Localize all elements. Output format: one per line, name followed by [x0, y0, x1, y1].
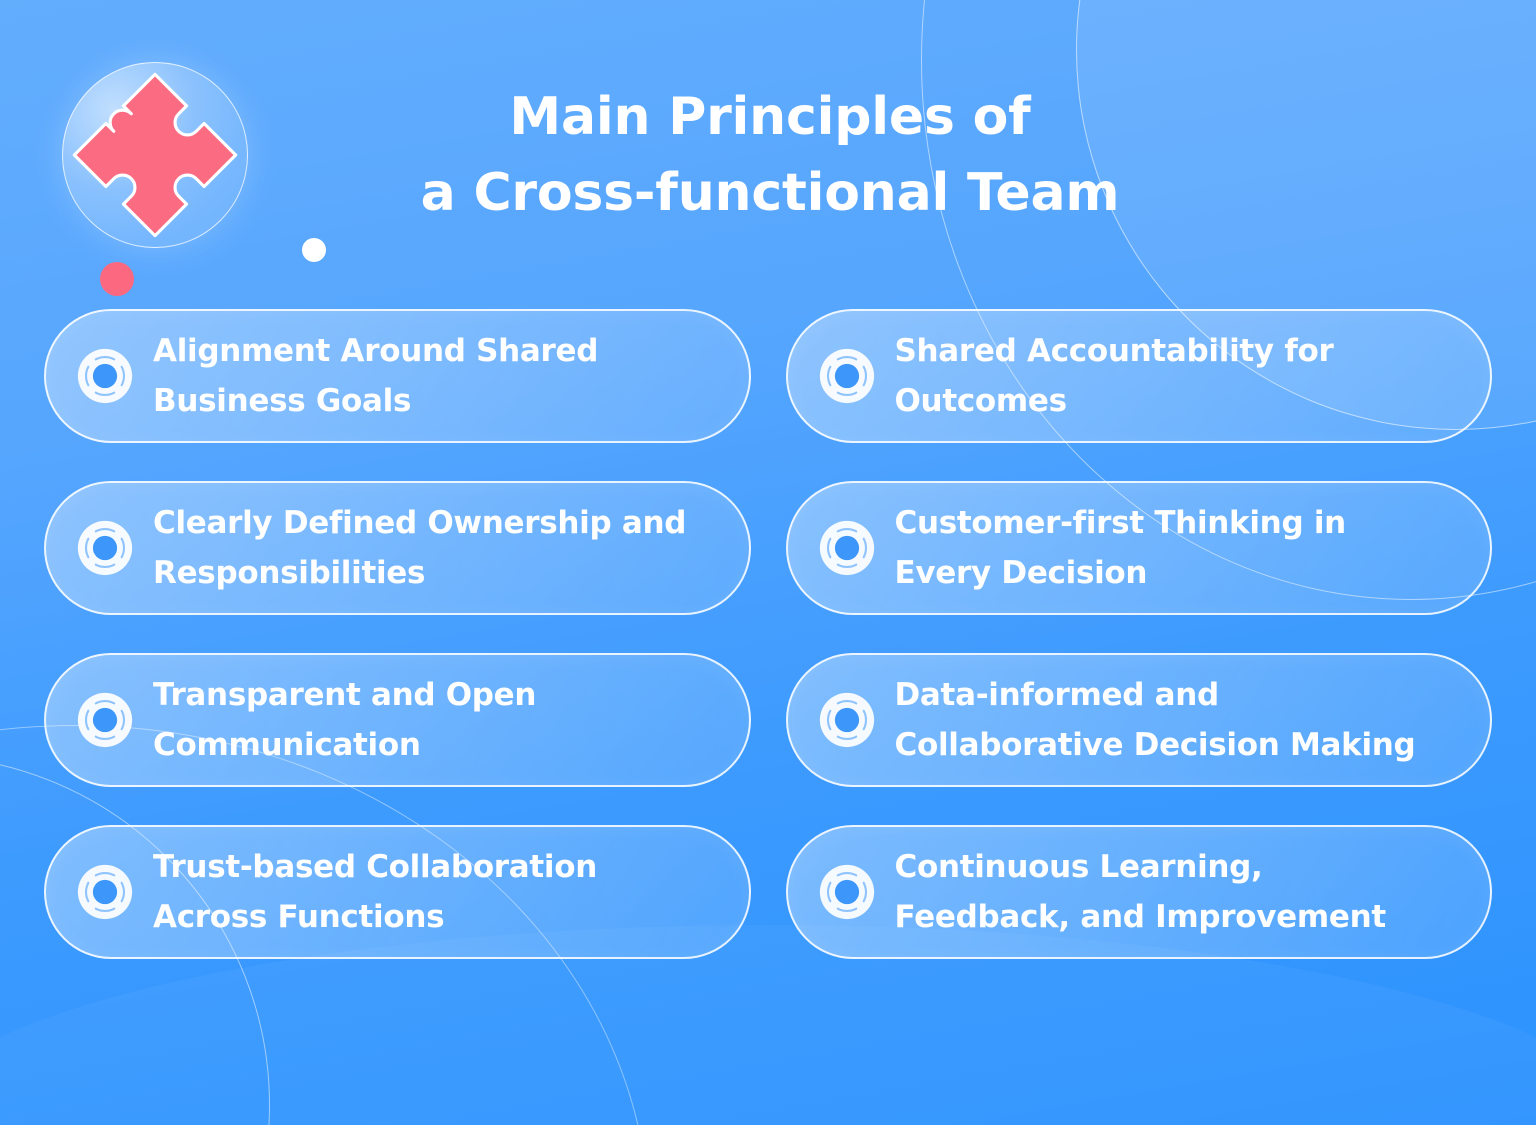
target-ring-icon — [816, 517, 878, 579]
principle-line-1: Trust-based Collaboration — [153, 842, 597, 892]
principle-line-1: Alignment Around Shared — [153, 326, 598, 376]
principle-label: Clearly Defined Ownership and Responsibi… — [153, 498, 686, 598]
target-ring-icon — [74, 861, 136, 923]
principles-row-2: Clearly Defined Ownership and Responsibi… — [44, 481, 1492, 615]
principle-card-4[interactable]: Customer-first Thinking in Every Decisio… — [786, 481, 1493, 615]
principles-row-1: Alignment Around Shared Business Goals — [44, 309, 1492, 443]
principle-line-2: Responsibilities — [153, 548, 686, 598]
infographic-poster: Main Principles of a Cross-functional Te… — [0, 0, 1536, 1125]
principle-line-1: Transparent and Open — [153, 670, 536, 720]
principle-card-6[interactable]: Data-informed and Collaborative Decision… — [786, 653, 1493, 787]
principle-card-3[interactable]: Clearly Defined Ownership and Responsibi… — [44, 481, 751, 615]
pink-dot — [100, 262, 134, 296]
page-title: Main Principles of a Cross-functional Te… — [300, 80, 1240, 232]
target-ring-icon — [74, 689, 136, 751]
principle-label: Trust-based Collaboration Across Functio… — [153, 842, 597, 942]
principle-card-2[interactable]: Shared Accountability for Outcomes — [786, 309, 1493, 443]
principle-label: Transparent and Open Communication — [153, 670, 536, 770]
principle-label: Alignment Around Shared Business Goals — [153, 326, 598, 426]
principle-card-5[interactable]: Transparent and Open Communication — [44, 653, 751, 787]
target-ring-icon — [816, 861, 878, 923]
principle-line-2: Every Decision — [895, 548, 1346, 598]
principle-label: Customer-first Thinking in Every Decisio… — [895, 498, 1346, 598]
title-line-1: Main Principles of — [300, 80, 1240, 156]
principle-line-1: Data-informed and — [895, 670, 1416, 720]
principle-line-2: Across Functions — [153, 892, 597, 942]
white-dot — [302, 238, 326, 262]
principle-card-8[interactable]: Continuous Learning, Feedback, and Impro… — [786, 825, 1493, 959]
principle-card-1[interactable]: Alignment Around Shared Business Goals — [44, 309, 751, 443]
title-line-2: a Cross-functional Team — [300, 156, 1240, 232]
principle-label: Continuous Learning, Feedback, and Impro… — [895, 842, 1386, 942]
principle-line-1: Continuous Learning, — [895, 842, 1386, 892]
principles-row-4: Trust-based Collaboration Across Functio… — [44, 825, 1492, 959]
principle-label: Shared Accountability for Outcomes — [895, 326, 1334, 426]
principle-label: Data-informed and Collaborative Decision… — [895, 670, 1416, 770]
target-ring-icon — [74, 345, 136, 407]
logo — [62, 62, 248, 248]
principle-line-2: Feedback, and Improvement — [895, 892, 1386, 942]
principle-line-2: Collaborative Decision Making — [895, 720, 1416, 770]
principles-grid: Alignment Around Shared Business Goals — [44, 309, 1492, 997]
principle-line-1: Shared Accountability for — [895, 326, 1334, 376]
principle-line-2: Communication — [153, 720, 536, 770]
target-ring-icon — [816, 345, 878, 407]
target-ring-icon — [74, 517, 136, 579]
principle-line-1: Customer-first Thinking in — [895, 498, 1346, 548]
principle-card-7[interactable]: Trust-based Collaboration Across Functio… — [44, 825, 751, 959]
principle-line-2: Outcomes — [895, 376, 1334, 426]
principle-line-1: Clearly Defined Ownership and — [153, 498, 686, 548]
principles-row-3: Transparent and Open Communication — [44, 653, 1492, 787]
principle-line-2: Business Goals — [153, 376, 598, 426]
target-ring-icon — [816, 689, 878, 751]
